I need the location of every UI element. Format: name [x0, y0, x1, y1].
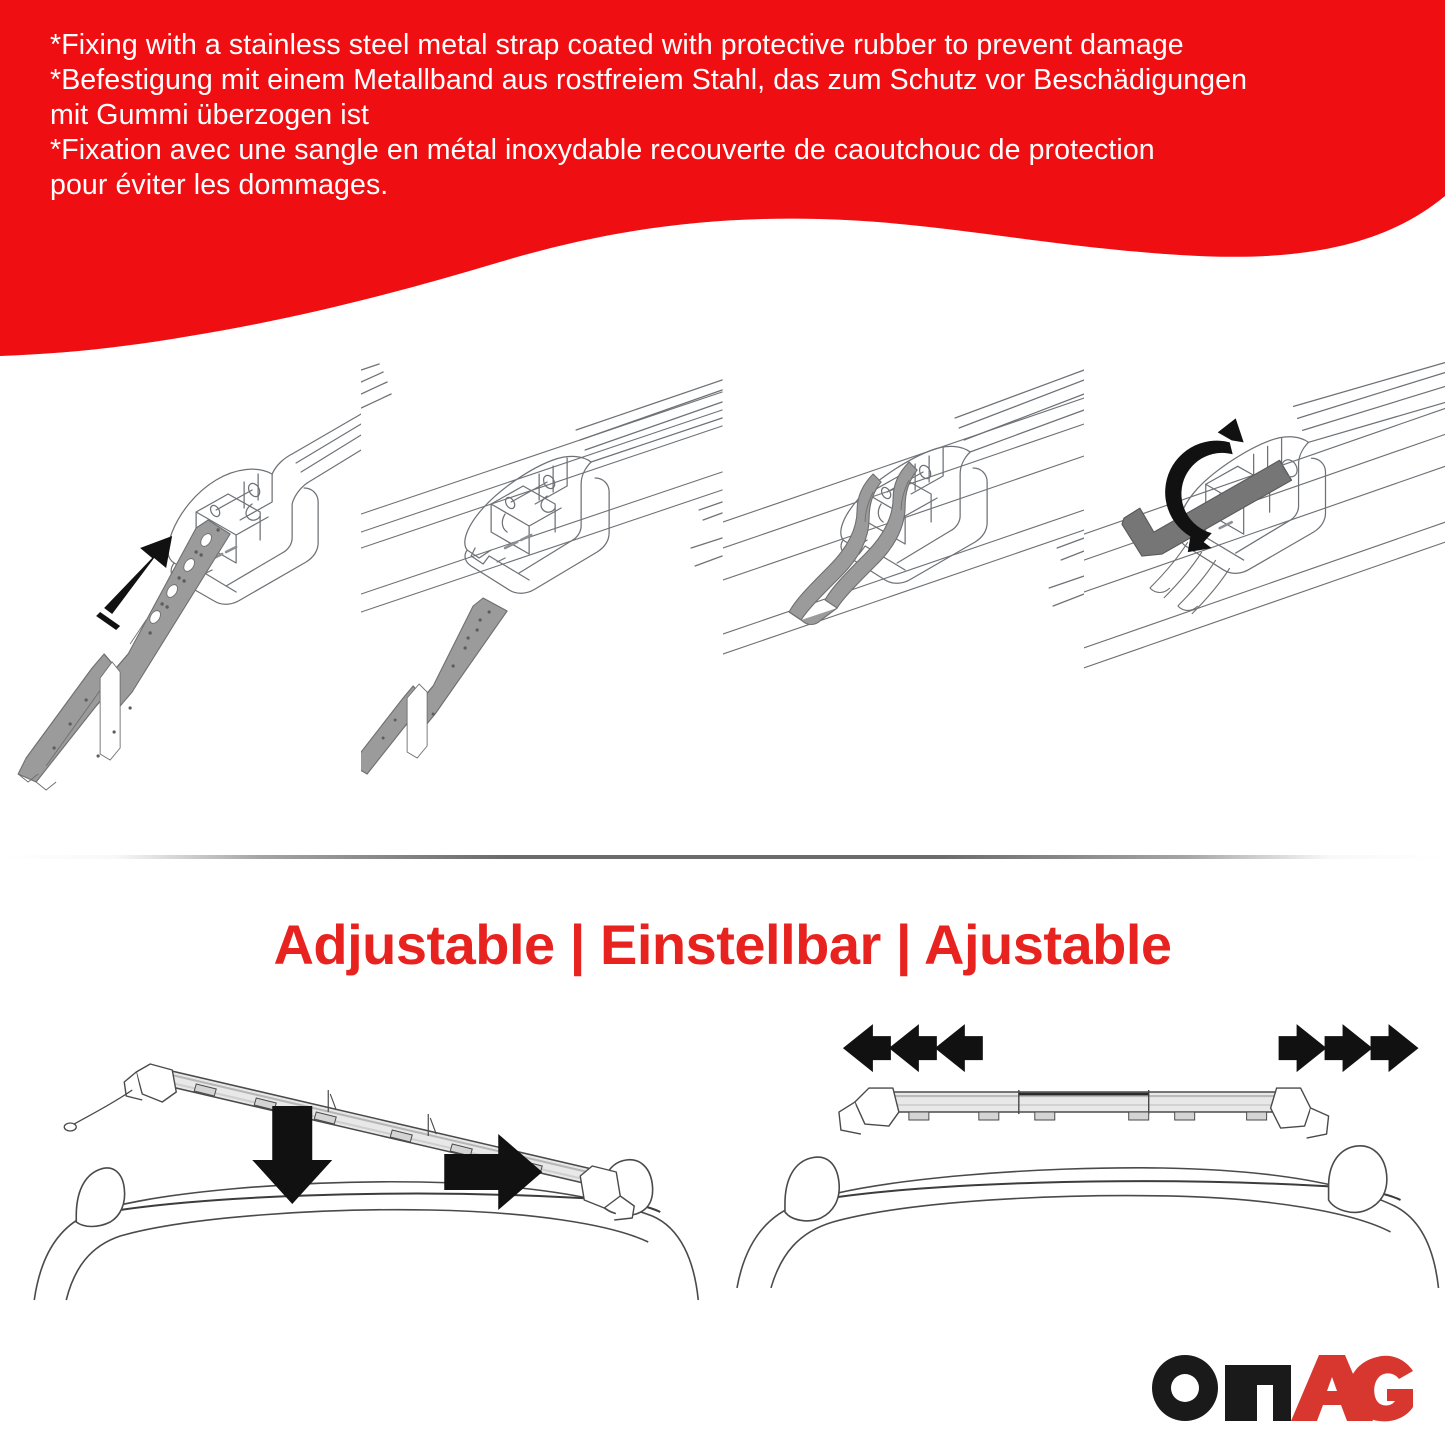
banner-text: *Fixing with a stainless steel metal str…: [50, 28, 1425, 203]
diagram-crossbar-width-adjust: [723, 1020, 1445, 1330]
logo-letter-c: [1349, 1356, 1413, 1422]
logo-letter-m: [1225, 1365, 1291, 1421]
bottom-diagrams: [0, 1020, 1445, 1330]
step-1-strap-insert: [0, 362, 361, 832]
step-2-foot-on-rail: [361, 362, 722, 832]
installation-steps: [0, 362, 1445, 832]
adjustable-heading: Adjustable | Einstellbar | Ajustable: [0, 912, 1445, 977]
section-divider: [0, 855, 1445, 859]
product-infographic: *Fixing with a stainless steel metal str…: [0, 0, 1445, 1445]
triple-right-arrow-shape: [1278, 1024, 1418, 1072]
step-4-tighten-bolt: [1084, 362, 1445, 832]
triple-left-arrow-shape: [842, 1024, 982, 1072]
diagram-crossbar-placement: [0, 1020, 723, 1330]
omac-logo: [1147, 1349, 1419, 1427]
step-3-strap-wrapped: [723, 362, 1084, 832]
logo-letter-o: [1152, 1355, 1218, 1421]
red-banner: *Fixing with a stainless steel metal str…: [0, 0, 1445, 360]
